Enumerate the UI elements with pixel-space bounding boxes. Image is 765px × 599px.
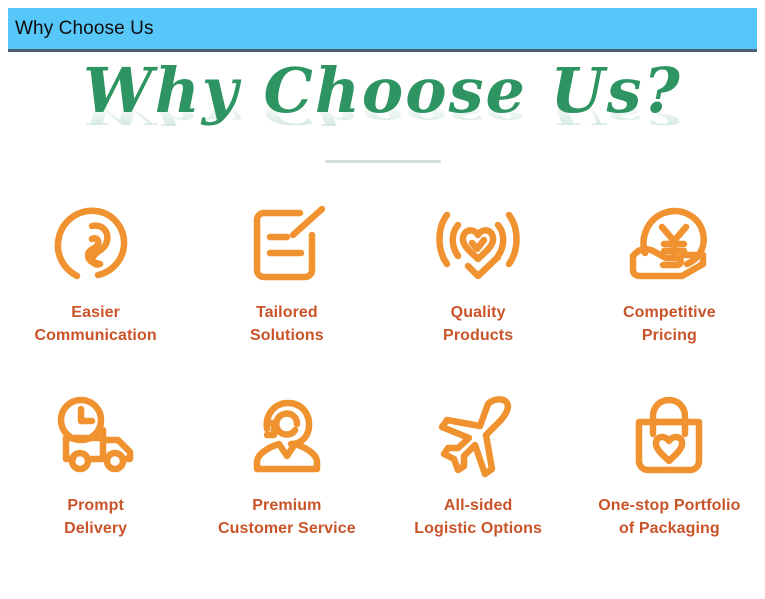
feature-item-prompt-delivery[interactable]: Prompt Delivery — [0, 389, 191, 540]
feature-label: Tailored Solutions — [250, 302, 324, 347]
feature-item-premium-customer-service[interactable]: Premium Customer Service — [191, 389, 382, 540]
page-content: Why Choose Us? Why Choose Us? Easier Com… — [0, 56, 765, 599]
heart-signal-check-icon — [428, 196, 528, 292]
feature-item-competitive-pricing[interactable]: Competitive Pricing — [574, 196, 765, 347]
shopping-bag-heart-icon — [619, 389, 719, 485]
feature-label: Premium Customer Service — [218, 495, 356, 540]
feature-label: Prompt Delivery — [64, 495, 127, 540]
feature-label: Quality Products — [443, 302, 513, 347]
headset-person-icon — [237, 389, 337, 485]
feature-item-all-sided-logistic-options[interactable]: All-sided Logistic Options — [383, 389, 574, 540]
feature-label: Competitive Pricing — [623, 302, 716, 347]
ear-in-circle-icon — [46, 196, 146, 292]
feature-label: Easier Communication — [35, 302, 157, 347]
truck-clock-icon — [46, 389, 146, 485]
feature-label: One-stop Portfolio of Packaging — [598, 495, 740, 540]
feature-grid: Easier Communication Tailored Solutions — [0, 196, 765, 541]
feature-item-one-stop-portfolio-of-packaging[interactable]: One-stop Portfolio of Packaging — [574, 389, 765, 540]
heading-divider — [325, 160, 441, 163]
feature-label: All-sided Logistic Options — [414, 495, 542, 540]
window-title: Why Choose Us — [8, 19, 154, 38]
feature-item-easier-communication[interactable]: Easier Communication — [0, 196, 191, 347]
feature-item-quality-products[interactable]: Quality Products — [383, 196, 574, 347]
airplane-icon — [428, 389, 528, 485]
feature-row: Easier Communication Tailored Solutions — [0, 196, 765, 347]
feature-row: Prompt Delivery Premium Customer Service — [0, 389, 765, 540]
window-header: Why Choose Us — [8, 8, 757, 52]
page-heading: Why Choose Us? Why Choose Us? — [0, 56, 765, 168]
page-title: Why Choose Us? — [0, 60, 765, 122]
document-pencil-icon — [237, 196, 337, 292]
feature-item-tailored-solutions[interactable]: Tailored Solutions — [191, 196, 382, 347]
hand-yen-coin-icon — [619, 196, 719, 292]
